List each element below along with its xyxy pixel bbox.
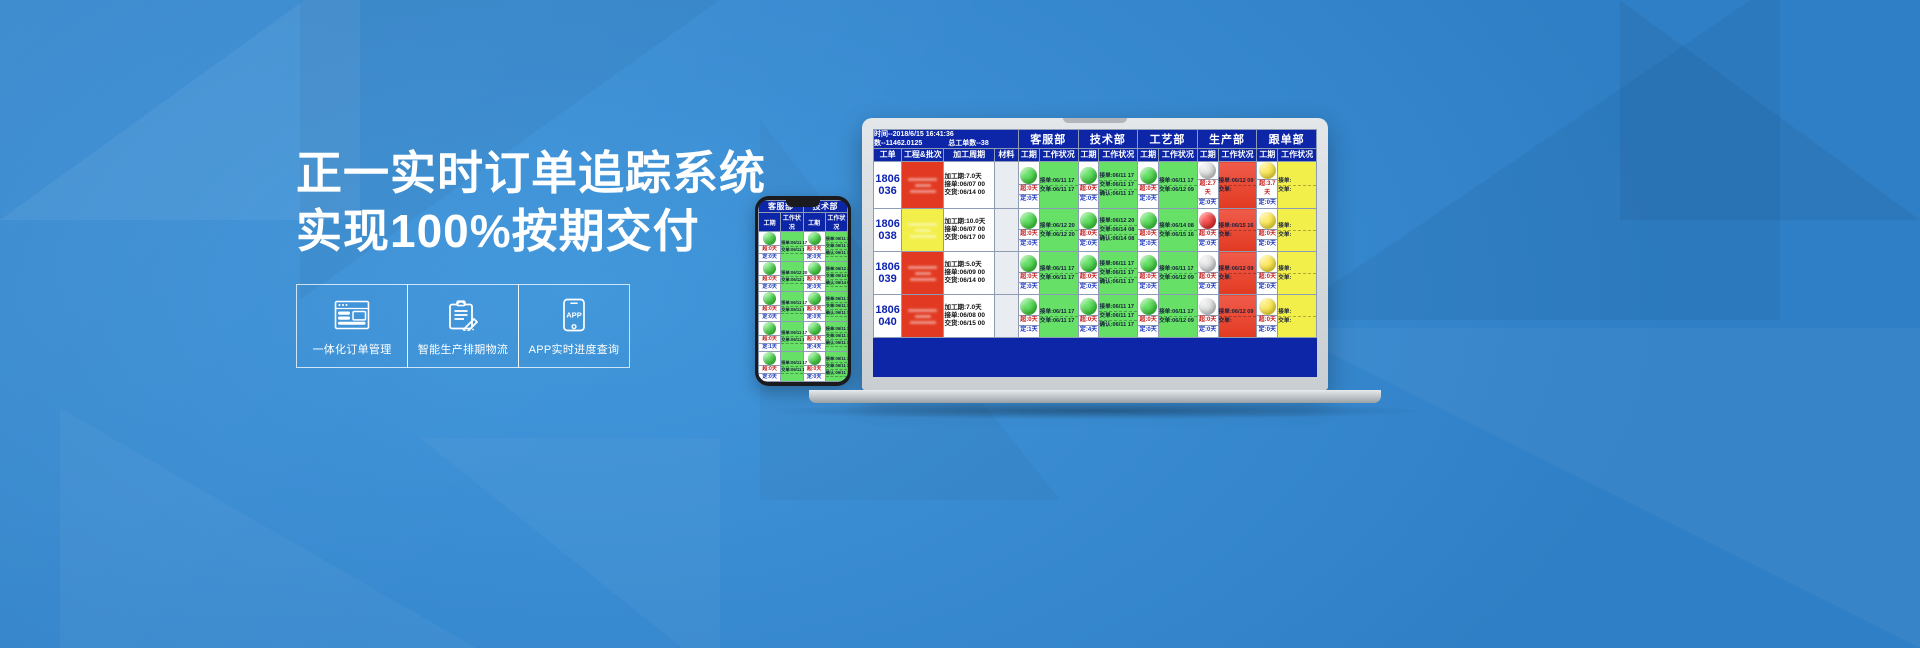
material-cell[interactable] — [994, 162, 1018, 209]
status-info-line: 确认:06/14 08 — [1099, 235, 1137, 243]
project-blur-content — [902, 266, 943, 281]
phone-duration-stack: 超:0天定:0天 — [759, 232, 780, 261]
window-list-icon — [334, 295, 370, 335]
svg-text:APP: APP — [566, 311, 582, 320]
work-status-cell[interactable]: 接单:06/12 09交单: — [1218, 162, 1257, 209]
status-info-line: 交单:06/11 17 — [1040, 317, 1078, 325]
phone-duration-cell[interactable]: 超:0天定:0天 — [803, 382, 825, 383]
status-dot-green-icon[interactable] — [1140, 298, 1157, 315]
phone-table-row[interactable]: 超:0天定:0天接单:06/11 17交单:06/11 17超:0天定:0天接单… — [759, 352, 848, 382]
duration-cell[interactable]: 超:0天定:0天 — [1138, 162, 1159, 209]
duration-cell[interactable]: 超:0天定:0天 — [1257, 252, 1278, 295]
phone-duration-cell[interactable]: 超:0天定:0天 — [803, 232, 825, 262]
overdue-days: 超:0天 — [1079, 272, 1099, 282]
planned-days: 定:0天 — [1138, 325, 1158, 335]
duration-cell[interactable]: 超:0天定:0天 — [1138, 295, 1159, 338]
overdue-days: 超:0天 — [1138, 184, 1158, 194]
status-dot-green-icon[interactable] — [1080, 212, 1097, 229]
phone-work-status-cell[interactable]: 接单:06/12 20交单:06/12 20 — [781, 262, 803, 292]
status-info-line: 交单:06/15 16 — [1159, 231, 1197, 239]
laptop-device: 时间--2018/6/15 16:41:36 数--11462.0125总工单数… — [862, 118, 1328, 418]
dept-header-gongyi: 工艺部 — [1138, 130, 1198, 149]
project-blur-content — [902, 178, 943, 193]
duration-stack: 超:0天定:0天 — [1079, 167, 1099, 204]
status-dot-green-icon[interactable] — [1140, 255, 1157, 272]
phone-status-dot-wrap — [759, 262, 780, 275]
phone-status-info-line: 交单:06/14 08 — [826, 273, 847, 280]
phone-status-dot-wrap — [804, 232, 825, 245]
phone-table-row[interactable]: 超:0天定:0天接单:06/12 20交单:06/12 20超:0天定:0天接单… — [759, 382, 848, 383]
feature-label: 智能生产排期物流 — [418, 341, 508, 357]
work-status-cell[interactable]: 接单:06/11 17交单:06/11 17 — [1039, 252, 1078, 295]
cycle-line: 加工期:5.0天 — [944, 261, 993, 269]
phone-work-status-cell[interactable]: 接单:06/12 20交单:06/14 08确认:06/14 08 — [825, 382, 847, 383]
overdue-days: 超:0天 — [1257, 315, 1277, 325]
project-batch-cell[interactable] — [902, 252, 944, 295]
phone-duration-stack: 超:0天定:4天 — [804, 322, 825, 351]
cycle-line: 加工期:7.0天 — [944, 173, 993, 181]
status-info-line: 交单:06/11 17 — [1099, 312, 1137, 321]
material-cell[interactable] — [994, 295, 1018, 338]
status-dot-green-icon[interactable] — [808, 232, 821, 245]
duration-cell[interactable]: 超:0天定:0天 — [1257, 209, 1278, 252]
phone-duration-cell[interactable]: 超:0天定:0天 — [803, 262, 825, 292]
status-info-line: 交单:06/14 08 — [1099, 226, 1137, 235]
duration-cell[interactable]: 超:3.7天定:0天 — [1257, 162, 1278, 209]
overdue-days: 超:0天 — [1138, 229, 1158, 239]
status-info-line: 接单:06/12 20 — [1040, 222, 1078, 231]
phone-planned-days: 定:0天 — [759, 373, 780, 381]
status-info-line: 接单:06/11 17 — [1099, 260, 1137, 269]
work-status-cell[interactable]: 接单:06/11 17交单:06/12 09 — [1159, 295, 1198, 338]
feature-box-production-scheduling[interactable]: 智能生产排期物流 — [407, 284, 519, 368]
planned-days: 定:0天 — [1198, 325, 1218, 335]
phone-status-info-line: 接单:06/11 17 — [826, 296, 847, 303]
status-dot-yellow-icon[interactable] — [1259, 162, 1276, 179]
overdue-days: 超:0天 — [1079, 315, 1099, 325]
status-dot-yellow-icon[interactable] — [1259, 212, 1276, 229]
phone-work-status-cell[interactable]: 接单:06/11 17交单:06/11 17 — [781, 322, 803, 352]
status-dot-green-icon[interactable] — [1020, 212, 1037, 229]
status-dot-gray-icon[interactable] — [1199, 255, 1216, 272]
phone-status-dot-wrap — [759, 322, 780, 335]
feature-label: APP实时进度查询 — [529, 341, 620, 357]
laptop-screen[interactable]: 时间--2018/6/15 16:41:36 数--11462.0125总工单数… — [873, 129, 1317, 377]
work-status-cell[interactable]: 接单:交单: — [1278, 209, 1317, 252]
duration-cell[interactable]: 超:0天定:0天 — [1018, 209, 1039, 252]
table-row[interactable]: 1806038加工期:10.0天接单:06/07 00交货:06/17 00超:… — [874, 209, 1317, 252]
phone-duration-cell[interactable]: 超:0天定:0天 — [759, 352, 781, 382]
table-head: 时间--2018/6/15 16:41:36 数--11462.0125总工单数… — [874, 130, 1317, 162]
planned-days: 定:0天 — [1079, 194, 1099, 204]
order-table: 时间--2018/6/15 16:41:36 数--11462.0125总工单数… — [873, 129, 1317, 338]
status-info-line: 接单: — [1278, 177, 1316, 186]
status-dot-green-icon[interactable] — [763, 232, 776, 245]
work-order-line: 038 — [874, 230, 901, 242]
phone-duration-cell[interactable]: 超:0天定:1天 — [759, 322, 781, 352]
phone-app-icon: APP — [562, 295, 586, 335]
work-status-cell[interactable]: 接单:06/12 09交单: — [1218, 252, 1257, 295]
meta-count-line: 数--11462.0125总工单数--38 — [874, 139, 1018, 148]
col-header-duration: 工期 — [1257, 149, 1278, 162]
overdue-days: 超:0天 — [1019, 272, 1039, 282]
phone-work-status-cell[interactable]: 接单:06/11 17交单:06/11 17确认:06/11 17 — [825, 292, 847, 322]
work-status-cell[interactable]: 接单:06/11 17交单:06/11 17确认:06/11 17 — [1099, 252, 1138, 295]
dept-header-shengchan: 生产部 — [1197, 130, 1257, 149]
col-header-project: 工程&批次 — [902, 149, 944, 162]
phone-status-info-line: 交单:06/11 17 — [826, 303, 847, 310]
duration-cell[interactable]: 超:0天定:0天 — [1197, 252, 1218, 295]
phone-work-status-cell[interactable]: 接单:06/11 17交单:06/11 17 — [781, 292, 803, 322]
work-status-cell[interactable]: 接单:交单: — [1278, 162, 1317, 209]
phone-duration-cell[interactable]: 超:0天定:0天 — [759, 262, 781, 292]
duration-stack: 超:3.7天定:0天 — [1257, 162, 1277, 208]
processing-cycle-cell[interactable]: 加工期:10.0天接单:06/07 00交货:06/17 00 — [944, 209, 994, 252]
phone-status-info-line: 交单:06/11 17 — [781, 367, 802, 374]
phone-status-info-line: 接单:06/11 17 — [781, 360, 802, 367]
work-status-cell[interactable]: 接单:交单: — [1278, 252, 1317, 295]
status-dot-green-icon[interactable] — [1020, 255, 1037, 272]
overdue-days: 超:0天 — [1019, 229, 1039, 239]
feature-box-app-progress[interactable]: APP APP实时进度查询 — [518, 284, 630, 368]
project-batch-cell[interactable] — [902, 295, 944, 338]
phone-status-dot-wrap — [804, 292, 825, 305]
duration-stack: 超:0天定:1天 — [1019, 298, 1039, 335]
laptop-base — [809, 390, 1381, 403]
overdue-days: 超:0天 — [1257, 272, 1277, 282]
status-dot-wrap — [1257, 255, 1277, 272]
status-dot-green-icon[interactable] — [1080, 167, 1097, 184]
processing-cycle-cell[interactable]: 加工期:7.0天接单:06/07 00交货:06/14 00 — [944, 162, 994, 209]
status-dot-green-icon[interactable] — [1020, 298, 1037, 315]
col-header-material: 材料 — [994, 149, 1018, 162]
table-row[interactable]: 1806036加工期:7.0天接单:06/07 00交货:06/14 00超:0… — [874, 162, 1317, 209]
col-header-status: 工作状况 — [1099, 149, 1138, 162]
status-info-line: 交单:06/12 09 — [1159, 317, 1197, 325]
status-info-line: 交单:06/11 17 — [1040, 274, 1078, 282]
phone-work-status-cell[interactable]: 接单:06/12 20交单:06/14 08确认:06/14 08 — [825, 262, 847, 292]
project-batch-cell[interactable] — [902, 209, 944, 252]
phone-status-dot-wrap — [759, 352, 780, 365]
status-dot-green-icon[interactable] — [1080, 298, 1097, 315]
status-dot-wrap — [1138, 298, 1158, 315]
phone-status-dot-wrap — [804, 262, 825, 275]
duration-stack: 超:0天定:0天 — [1138, 212, 1158, 249]
work-status-cell[interactable]: 接单:06/11 17交单:06/12 09 — [1159, 162, 1198, 209]
phone-duration-stack: 超:0天定:0天 — [759, 352, 780, 381]
planned-days: 定:0天 — [1138, 194, 1158, 204]
phone-work-status-cell[interactable]: 接单:06/12 20交单:06/12 20 — [781, 382, 803, 383]
status-dot-yellow-icon[interactable] — [1259, 255, 1276, 272]
phone-status-info-line: 确认:06/11 17 — [826, 370, 847, 377]
phone-status-info-line: 交单:06/11 17 — [781, 247, 802, 254]
status-dot-green-icon[interactable] — [763, 352, 776, 365]
phone-planned-days: 定:0天 — [804, 313, 825, 321]
phone-overdue-days: 超:0天 — [759, 365, 780, 373]
phone-status-info-line: 交单:06/11 17 — [826, 243, 847, 250]
phone-work-status-cell[interactable]: 接单:06/11 17交单:06/11 17确认:06/11 17 — [825, 352, 847, 382]
status-info-line: 交单: — [1278, 231, 1316, 239]
work-status-cell[interactable]: 接单:06/11 17交单:06/11 17确认:06/11 17 — [1099, 295, 1138, 338]
phone-status-info-line: 接单:06/11 17 — [781, 300, 802, 307]
laptop-shadow — [767, 403, 1422, 419]
duration-cell[interactable]: 超:0天定:0天 — [1138, 252, 1159, 295]
status-dot-wrap — [1257, 298, 1277, 315]
phone-duration-cell[interactable]: 超:0天定:0天 — [803, 292, 825, 322]
phone-status-info-line: 接单:06/11 17 — [826, 236, 847, 243]
status-dot-yellow-icon[interactable] — [1259, 298, 1276, 315]
status-info-line: 交单:06/12 09 — [1159, 186, 1197, 194]
status-info-line: 确认:06/11 17 — [1099, 321, 1137, 329]
status-info-line: 交单: — [1219, 274, 1257, 282]
phone-duration-cell[interactable]: 超:0天定:0天 — [759, 232, 781, 262]
material-cell[interactable] — [994, 209, 1018, 252]
status-dot-red-icon[interactable] — [1199, 212, 1216, 229]
work-status-cell[interactable]: 接单:06/11 17交单:06/11 17 — [1039, 162, 1078, 209]
processing-cycle-cell[interactable]: 加工期:5.0天接单:06/09 00交货:06/14 00 — [944, 252, 994, 295]
status-dot-wrap — [1019, 255, 1039, 272]
overdue-days: 超:0天 — [1138, 315, 1158, 325]
work-status-cell[interactable]: 接单:06/11 17交单:06/11 17 — [1039, 295, 1078, 338]
work-status-cell[interactable]: 接单:06/11 17交单:06/11 17确认:06/11 17 — [1099, 162, 1138, 209]
overdue-days: 超:0天 — [1079, 184, 1099, 194]
phone-notch — [786, 200, 820, 207]
phone-duration-stack: 超:0天定:0天 — [804, 232, 825, 261]
phone-app: 客服部 技术部 工期 工作状况 工期 工作状况 超:0天定:0天接单:06/11… — [758, 200, 848, 382]
phone-duration-stack: 超:0天定:0天 — [759, 292, 780, 321]
duration-cell[interactable]: 超:0天定:0天 — [1257, 295, 1278, 338]
phone-status-dot-wrap — [804, 322, 825, 335]
col-header-duration: 工期 — [1197, 149, 1218, 162]
phone-duration-cell[interactable]: 超:0天定:4天 — [803, 322, 825, 352]
phone-status-info-line: 交单:06/12 20 — [781, 277, 802, 284]
feature-box-order-management[interactable]: 一体化订单管理 — [296, 284, 408, 368]
work-status-cell[interactable]: 接单:06/12 20交单:06/12 20 — [1039, 209, 1078, 252]
duration-stack: 超:0天定:0天 — [1019, 212, 1039, 249]
duration-cell[interactable]: 超:0天定:0天 — [1197, 209, 1218, 252]
phone-duration-cell[interactable]: 超:0天定:0天 — [803, 352, 825, 382]
phone-col-header: 工作状况 — [781, 213, 803, 232]
col-header-status: 工作状况 — [1218, 149, 1257, 162]
status-dot-green-icon[interactable] — [808, 262, 821, 275]
cycle-line: 接单:06/08 00 — [944, 312, 993, 320]
duration-stack: 超:0天定:0天 — [1138, 255, 1158, 292]
cycle-line: 接单:06/07 00 — [944, 226, 993, 234]
table-row[interactable]: 1806040加工期:7.0天接单:06/08 00交货:06/15 00超:0… — [874, 295, 1317, 338]
overdue-days: 超:0天 — [1257, 229, 1277, 239]
status-dot-wrap — [1079, 255, 1099, 272]
phone-status-info-line: 确认:06/14 08 — [826, 280, 847, 287]
clipboard-pencil-icon — [448, 295, 478, 335]
phone-table-row[interactable]: 超:0天定:0天接单:06/11 17交单:06/11 17超:0天定:0天接单… — [759, 292, 848, 322]
phone-overdue-days: 超:0天 — [804, 305, 825, 313]
duration-stack: 超:0天定:0天 — [1198, 298, 1218, 335]
status-dot-wrap — [1198, 212, 1218, 229]
phone-overdue-days: 超:0天 — [804, 365, 825, 373]
status-dot-gray-icon[interactable] — [1199, 298, 1216, 315]
phone-status-info-line: 交单:06/11 17 — [826, 363, 847, 370]
phone-table-row[interactable]: 超:0天定:1天接单:06/11 17交单:06/11 17超:0天定:4天接单… — [759, 322, 848, 352]
phone-status-info-line: 交单:06/11 17 — [781, 337, 802, 344]
work-order-cell[interactable]: 1806039 — [874, 252, 902, 295]
dept-header-gendan: 跟单部 — [1257, 130, 1317, 149]
col-header-status: 工作状况 — [1159, 149, 1198, 162]
phone-overdue-days: 超:0天 — [804, 245, 825, 253]
status-dot-green-icon[interactable] — [808, 352, 821, 365]
planned-days: 定:1天 — [1019, 325, 1039, 335]
project-blur-content — [902, 309, 943, 324]
duration-cell[interactable]: 超:0天定:0天 — [1018, 252, 1039, 295]
meta-total: 总工单数--38 — [948, 140, 988, 147]
bg-polygon — [420, 438, 720, 648]
phone-work-status-cell[interactable]: 接单:06/11 17交单:06/11 17确认:06/11 17 — [825, 232, 847, 262]
material-cell[interactable] — [994, 252, 1018, 295]
status-dot-gray-icon[interactable] — [1199, 162, 1216, 179]
duration-stack: 超:0天定:0天 — [1019, 167, 1039, 204]
phone-column-header-row: 工期 工作状况 工期 工作状况 — [759, 213, 848, 232]
phone-status-dot-wrap — [804, 352, 825, 365]
headline-line-1: 正一实时订单追踪系统 — [296, 144, 936, 202]
duration-cell[interactable]: 超:0天定:0天 — [1138, 209, 1159, 252]
phone-duration-stack: 超:0天定:0天 — [804, 352, 825, 381]
dept-header-kefu: 客服部 — [1018, 130, 1078, 149]
phone-work-status-cell[interactable]: 接单:06/11 17交单:06/11 17确认:06/11 17 — [825, 322, 847, 352]
status-dot-green-icon[interactable] — [808, 322, 821, 335]
phone-duration-cell[interactable]: 超:0天定:0天 — [759, 292, 781, 322]
col-header-duration: 工期 — [1138, 149, 1159, 162]
phone-work-status-cell[interactable]: 接单:06/11 17交单:06/11 17 — [781, 232, 803, 262]
overdue-days: 超:0天 — [1019, 315, 1039, 325]
duration-stack: 超:0天定:0天 — [1079, 212, 1099, 249]
table-row[interactable]: 1806039加工期:5.0天接单:06/09 00交货:06/14 00超:0… — [874, 252, 1317, 295]
status-dot-green-icon[interactable] — [763, 292, 776, 305]
duration-cell[interactable]: 超:0天定:0天 — [1078, 162, 1099, 209]
phone-table-body: 超:0天定:0天接单:06/11 17交单:06/11 17超:0天定:0天接单… — [759, 232, 848, 383]
phone-col-header: 工作状况 — [825, 213, 847, 232]
project-blur-content — [902, 223, 943, 238]
work-order-cell[interactable]: 1806040 — [874, 295, 902, 338]
duration-stack: 超:0天定:0天 — [1198, 212, 1218, 249]
duration-cell[interactable]: 超:0天定:1天 — [1018, 295, 1039, 338]
work-order-cell[interactable]: 1806038 — [874, 209, 902, 252]
phone-planned-days: 定:0天 — [759, 313, 780, 321]
overdue-days: 超:0天 — [1138, 272, 1158, 282]
phone-planned-days: 定:4天 — [804, 343, 825, 351]
phone-planned-days: 定:0天 — [759, 253, 780, 261]
col-header-status: 工作状况 — [1278, 149, 1317, 162]
status-dot-wrap — [1079, 167, 1099, 184]
status-info-line: 交单:06/11 17 — [1040, 186, 1078, 194]
work-status-cell[interactable]: 接单:06/12 09交单: — [1218, 295, 1257, 338]
duration-stack: 超:0天定:0天 — [1257, 212, 1277, 249]
phone-screen[interactable]: 客服部 技术部 工期 工作状况 工期 工作状况 超:0天定:0天接单:06/11… — [758, 200, 848, 382]
phone-table-row[interactable]: 超:0天定:0天接单:06/12 20交单:06/12 20超:0天定:0天接单… — [759, 262, 848, 292]
dept-header-jishu: 技术部 — [1078, 130, 1138, 149]
status-dot-green-icon[interactable] — [808, 292, 821, 305]
work-order-line: 1806 — [874, 218, 901, 230]
overdue-days: 超:0天 — [1198, 272, 1218, 282]
duration-cell[interactable]: 超:0天定:0天 — [1078, 252, 1099, 295]
cycle-line: 交货:06/14 00 — [944, 189, 993, 197]
col-header-status: 工作状况 — [1039, 149, 1078, 162]
phone-col-header: 工期 — [759, 213, 781, 232]
planned-days: 定:0天 — [1198, 239, 1218, 249]
status-info-line: 交单: — [1278, 317, 1316, 325]
status-dot-wrap — [1257, 162, 1277, 179]
phone-table-row[interactable]: 超:0天定:0天接单:06/11 17交单:06/11 17超:0天定:0天接单… — [759, 232, 848, 262]
project-batch-cell[interactable] — [902, 162, 944, 209]
phone-status-dot-wrap — [759, 292, 780, 305]
status-info-line: 接单:06/12 09 — [1219, 177, 1257, 186]
processing-cycle-cell[interactable]: 加工期:7.0天接单:06/08 00交货:06/15 00 — [944, 295, 994, 338]
work-status-cell[interactable]: 接单:交单: — [1278, 295, 1317, 338]
status-info-line: 接单:06/12 09 — [1219, 308, 1257, 317]
status-dot-wrap — [1019, 167, 1039, 184]
status-info-line: 接单:06/12 20 — [1099, 217, 1137, 226]
overdue-days: 超:0天 — [1079, 229, 1099, 239]
status-dot-green-icon[interactable] — [763, 322, 776, 335]
status-info-line: 接单:06/11 17 — [1099, 172, 1137, 181]
cycle-line: 接单:06/09 00 — [944, 269, 993, 277]
overdue-days: 超:0天 — [1019, 184, 1039, 194]
status-dot-wrap — [1257, 212, 1277, 229]
status-dot-green-icon[interactable] — [1080, 255, 1097, 272]
status-dot-green-icon[interactable] — [763, 262, 776, 275]
work-status-cell[interactable]: 接单:06/14 08交单:06/15 16 — [1159, 209, 1198, 252]
status-dot-green-icon[interactable] — [1020, 167, 1037, 184]
status-info-line: 接单: — [1278, 265, 1316, 274]
duration-cell[interactable]: 超:0天定:0天 — [1018, 162, 1039, 209]
work-order-line: 1806 — [874, 173, 901, 185]
work-status-cell[interactable]: 接单:06/15 16交单: — [1218, 209, 1257, 252]
phone-duration-stack: 超:0天定:1天 — [759, 322, 780, 351]
cycle-line: 加工期:7.0天 — [944, 304, 993, 312]
phone-status-info-line: 确认:06/11 17 — [826, 310, 847, 317]
work-order-cell[interactable]: 1806036 — [874, 162, 902, 209]
feature-label: 一体化订单管理 — [312, 341, 391, 357]
duration-cell[interactable]: 超:0天定:4天 — [1078, 295, 1099, 338]
status-dot-green-icon[interactable] — [1140, 167, 1157, 184]
status-dot-green-icon[interactable] — [1140, 212, 1157, 229]
phone-duration-cell[interactable]: 超:0天定:0天 — [759, 382, 781, 383]
duration-cell[interactable]: 超:0天定:0天 — [1197, 295, 1218, 338]
status-info-line: 接单:06/11 17 — [1159, 308, 1197, 317]
work-status-cell[interactable]: 接单:06/11 17交单:06/12 09 — [1159, 252, 1198, 295]
laptop-lid: 时间--2018/6/15 16:41:36 数--11462.0125总工单数… — [862, 118, 1328, 390]
overdue-days: 超:3.7天 — [1257, 179, 1277, 198]
phone-status-info-line: 接单:06/12 20 — [781, 270, 802, 277]
phone-duration-stack: 超:0天定:0天 — [759, 262, 780, 291]
status-info-line: 交单: — [1278, 274, 1316, 282]
phone-work-status-cell[interactable]: 接单:06/11 17交单:06/11 17 — [781, 352, 803, 382]
status-info-line: 交单: — [1219, 317, 1257, 325]
duration-cell[interactable]: 超:0天定:0天 — [1078, 209, 1099, 252]
work-status-cell[interactable]: 接单:06/12 20交单:06/14 08确认:06/14 08 — [1099, 209, 1138, 252]
cycle-line: 交货:06/14 00 — [944, 277, 993, 285]
overdue-days: 超:2.7天 — [1198, 179, 1218, 198]
phone-status-info-line: 确认:06/11 17 — [826, 250, 847, 257]
status-info-line: 交单:06/11 17 — [1099, 269, 1137, 278]
planned-days: 定:0天 — [1198, 198, 1218, 208]
status-info-line: 接单:06/14 08 — [1159, 222, 1197, 231]
work-order-line: 040 — [874, 316, 901, 328]
duration-cell[interactable]: 超:2.7天定:0天 — [1197, 162, 1218, 209]
status-info-line: 接单: — [1278, 308, 1316, 317]
cycle-line: 加工期:10.0天 — [944, 218, 993, 226]
status-info-line: 交单:06/12 09 — [1159, 274, 1197, 282]
status-info-line: 接单:06/11 17 — [1099, 303, 1137, 312]
phone-status-info-line: 接单:06/11 17 — [781, 240, 802, 247]
